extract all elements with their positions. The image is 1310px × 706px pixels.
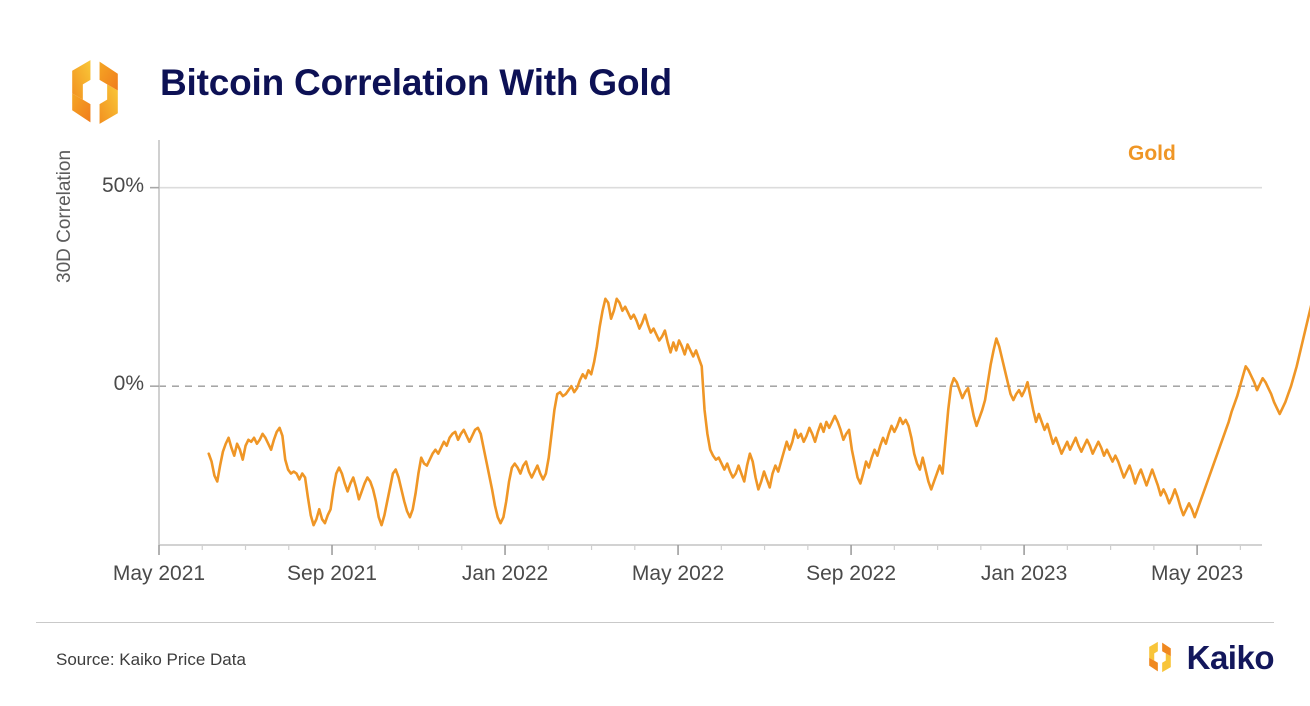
footer-wordmark: Kaiko — [1187, 641, 1274, 674]
chart-plot-area — [0, 0, 1310, 706]
y-tick-marks-group — [150, 188, 159, 387]
footer-divider — [36, 622, 1274, 623]
x-tick-label: Sep 2021 — [242, 562, 422, 586]
axis-lines-group — [159, 140, 1262, 545]
x-tick-label: Jan 2022 — [415, 562, 595, 586]
footer-brand: Kaiko — [1142, 636, 1274, 678]
y-tick-label: 50% — [64, 174, 144, 198]
x-tick-label: Sep 2022 — [761, 562, 941, 586]
line-chart-svg — [0, 0, 1310, 706]
x-tick-label: May 2023 — [1107, 562, 1287, 586]
x-tick-label: May 2022 — [588, 562, 768, 586]
x-tick-label: Jan 2023 — [934, 562, 1114, 586]
source-note: Source: Kaiko Price Data — [56, 650, 246, 670]
x-tick-label: May 2021 — [69, 562, 249, 586]
series-line-gold — [209, 158, 1310, 525]
kaiko-hexagon-logo-icon — [1142, 639, 1178, 675]
series-label-gold: Gold — [1128, 142, 1176, 166]
y-tick-label: 0% — [64, 372, 144, 396]
x-tick-marks-group — [159, 545, 1240, 555]
gridlines-group — [159, 188, 1262, 387]
